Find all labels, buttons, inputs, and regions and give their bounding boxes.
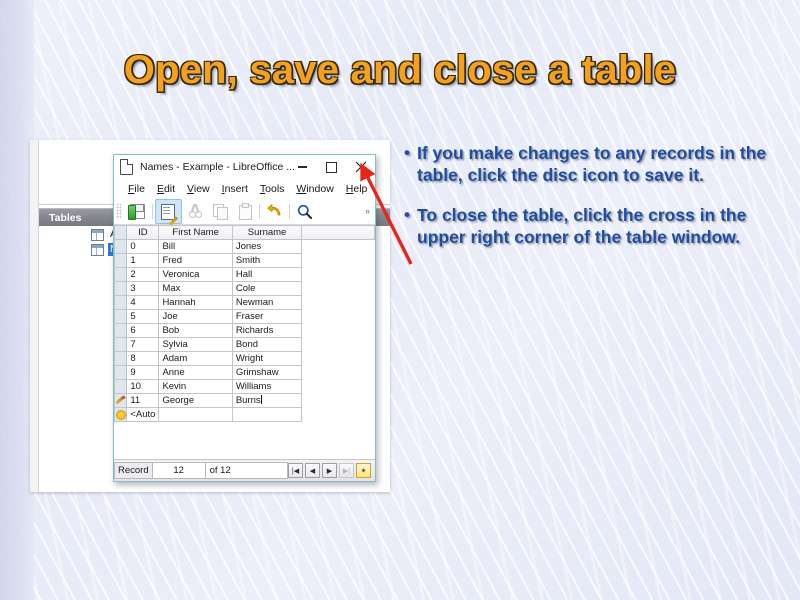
cell-filler	[302, 408, 375, 422]
new-record-button[interactable]: ✶	[356, 463, 371, 478]
bullet-marker: •	[404, 142, 410, 164]
new-record-icon	[117, 411, 125, 419]
edit-data-icon	[161, 204, 176, 219]
cell-id[interactable]: 10	[127, 380, 159, 394]
cell-last[interactable]: Fraser	[232, 310, 301, 324]
menu-item-tools[interactable]: Tools	[254, 183, 291, 195]
cell-last[interactable]: Jones	[232, 240, 301, 254]
toolbar: »	[114, 198, 375, 225]
cell-id[interactable]: 9	[127, 366, 159, 380]
row-marker[interactable]	[115, 296, 127, 310]
cell-first[interactable]: Veronica	[159, 268, 232, 282]
base-left-margin	[30, 140, 39, 492]
status-bar: Record 12 of 12 |◀ ◀ ▶ ▶| ✶	[114, 459, 375, 481]
close-icon	[355, 161, 367, 173]
cell-last[interactable]: Bond	[232, 338, 301, 352]
menu-label-rest: ile	[134, 183, 145, 195]
undo-icon	[267, 204, 283, 218]
table-row[interactable]: 4 Hannah Newman	[115, 296, 375, 310]
menu-label-rest: ools	[265, 183, 284, 195]
document-icon	[120, 159, 133, 175]
cell-first[interactable]: Sylvia	[159, 338, 232, 352]
cell-last[interactable]: Williams	[232, 380, 301, 394]
row-marker[interactable]	[115, 324, 127, 338]
cell-filler	[302, 352, 375, 366]
cell-last[interactable]: Richards	[232, 324, 301, 338]
table-row-editing[interactable]: 11 George Burns	[115, 394, 375, 408]
cell-filler	[302, 268, 375, 282]
toolbar-overflow-button[interactable]: »	[365, 206, 370, 216]
cell-filler	[302, 338, 375, 352]
cell-id[interactable]: 0	[127, 240, 159, 254]
cell-id[interactable]: 4	[127, 296, 159, 310]
column-header-surname[interactable]: Surname	[232, 226, 301, 240]
table-row[interactable]: 6 Bob Richards	[115, 324, 375, 338]
menu-label-rest: indow	[306, 183, 333, 195]
menu-item-view[interactable]: View	[181, 183, 216, 195]
cut-button[interactable]	[182, 200, 207, 223]
minimize-icon	[298, 166, 307, 167]
pencil-icon	[116, 396, 125, 405]
find-record-button[interactable]	[292, 200, 317, 223]
cell-first[interactable]: Joe	[159, 310, 232, 324]
record-navigation: |◀ ◀ ▶ ▶| ✶	[288, 463, 375, 478]
cell-filler	[302, 240, 375, 254]
toolbar-separator	[259, 204, 260, 219]
menu-item-file[interactable]: File	[122, 183, 151, 195]
undo-button[interactable]	[262, 200, 287, 223]
cell-first[interactable]: Bob	[159, 324, 232, 338]
cell-first[interactable]: Max	[159, 282, 232, 296]
cell-id[interactable]: 7	[127, 338, 159, 352]
row-marker[interactable]	[115, 254, 127, 268]
text-cursor	[261, 395, 262, 404]
cell-filler	[302, 282, 375, 296]
table-row[interactable]: 0 Bill Jones	[115, 240, 375, 254]
toolbar-separator	[289, 204, 290, 219]
bullet-text: If you make changes to any records in th…	[417, 143, 766, 185]
cell-id[interactable]: 6	[127, 324, 159, 338]
tables-section-label: Tables	[49, 212, 81, 224]
records-table: ID First Name Surname 0 Bill Jones 1	[114, 225, 375, 422]
records-body: 0 Bill Jones 1 Fred Smith 2 Veronica Hal	[115, 240, 375, 422]
row-marker[interactable]	[115, 268, 127, 282]
cell-filler	[302, 324, 375, 338]
table-row[interactable]: 3 Max Cole	[115, 282, 375, 296]
table-icon	[91, 229, 104, 241]
cell-last[interactable]: Grimshaw	[232, 366, 301, 380]
minimize-button[interactable]	[288, 155, 317, 179]
row-marker[interactable]	[115, 338, 127, 352]
last-record-button[interactable]: ▶|	[339, 463, 354, 478]
record-label: Record	[114, 462, 153, 479]
table-row-new[interactable]: <Auto	[115, 408, 375, 422]
table-row[interactable]: 8 Adam Wright	[115, 352, 375, 366]
next-record-button[interactable]: ▶	[322, 463, 337, 478]
paste-button[interactable]	[232, 200, 257, 223]
menu-label-rest: dit	[164, 183, 175, 195]
row-marker-new[interactable]	[115, 408, 127, 422]
data-grid[interactable]: ID First Name Surname 0 Bill Jones 1	[114, 225, 375, 459]
window-title: Names - Example - LibreOffice ...	[140, 161, 295, 173]
table-row[interactable]: 9 Anne Grimshaw	[115, 366, 375, 380]
row-marker[interactable]	[115, 240, 127, 254]
cell-filler	[302, 366, 375, 380]
table-icon	[91, 244, 104, 256]
menu-label-rest: elp	[353, 183, 367, 195]
close-button[interactable]	[346, 155, 375, 179]
cell-filler	[302, 394, 375, 408]
cell-last-editing[interactable]: Burns	[232, 394, 301, 408]
column-header-id[interactable]: ID	[127, 226, 159, 240]
cell-last[interactable]	[232, 408, 301, 422]
table-data-window: Names - Example - LibreOffice ... File E…	[113, 154, 376, 482]
row-marker[interactable]	[115, 366, 127, 380]
row-marker[interactable]	[115, 352, 127, 366]
previous-record-button[interactable]: ◀	[305, 463, 320, 478]
bullet-marker: •	[404, 204, 410, 226]
save-button[interactable]	[125, 200, 150, 223]
column-header-first-name[interactable]: First Name	[159, 226, 232, 240]
paste-icon	[238, 204, 252, 218]
row-marker[interactable]	[115, 310, 127, 324]
menu-item-insert[interactable]: Insert	[216, 183, 254, 195]
copy-button[interactable]	[207, 200, 232, 223]
edit-data-button[interactable]	[155, 199, 182, 224]
find-icon	[297, 204, 312, 219]
record-number-field[interactable]: 12	[153, 462, 206, 479]
menu-item-window[interactable]: Window	[290, 183, 339, 195]
row-marker[interactable]	[115, 380, 127, 394]
table-row[interactable]: 5 Joe Fraser	[115, 310, 375, 324]
row-selector-header	[115, 226, 127, 240]
maximize-button[interactable]	[317, 155, 346, 179]
cell-filler	[302, 296, 375, 310]
table-row[interactable]: 2 Veronica Hall	[115, 268, 375, 282]
table-header-row: ID First Name Surname	[115, 226, 375, 240]
cell-first[interactable]: Anne	[159, 366, 232, 380]
copy-icon	[213, 204, 227, 218]
cell-id[interactable]: 2	[127, 268, 159, 282]
cell-filler	[302, 380, 375, 394]
menu-item-help[interactable]: Help	[340, 183, 374, 195]
cell-first[interactable]: Fred	[159, 254, 232, 268]
column-header-filler	[302, 226, 375, 240]
cell-first[interactable]: Adam	[159, 352, 232, 366]
menu-label-rest: iew	[194, 183, 210, 195]
cell-filler	[302, 254, 375, 268]
cell-last[interactable]: Wright	[232, 352, 301, 366]
bullet-list: • If you make changes to any records in …	[404, 142, 776, 266]
menu-item-edit[interactable]: Edit	[151, 183, 181, 195]
cell-id[interactable]: 11	[127, 394, 159, 408]
toolbar-separator	[152, 204, 153, 219]
window-controls	[288, 155, 375, 179]
window-title-bar: Names - Example - LibreOffice ...	[114, 155, 375, 179]
cell-first[interactable]: Bill	[159, 240, 232, 254]
table-row[interactable]: 7 Sylvia Bond	[115, 338, 375, 352]
page-title: Open, save and close a table	[0, 48, 800, 93]
table-row[interactable]: 10 Kevin Williams	[115, 380, 375, 394]
menu-label-rest: nsert	[225, 183, 248, 195]
save-icon	[130, 204, 145, 219]
row-marker-editing[interactable]	[115, 394, 127, 408]
toolbar-grip[interactable]	[116, 203, 122, 219]
cell-filler	[302, 310, 375, 324]
maximize-icon	[326, 162, 337, 173]
cell-id[interactable]: 3	[127, 282, 159, 296]
cell-last-text: Burns	[236, 395, 261, 406]
record-total: of 12	[206, 462, 288, 479]
cell-first[interactable]: George	[159, 394, 232, 408]
cell-last[interactable]: Hall	[232, 268, 301, 282]
cell-last[interactable]: Cole	[232, 282, 301, 296]
cell-first[interactable]	[159, 408, 232, 422]
cell-id[interactable]: 8	[127, 352, 159, 366]
bullet-item-save: • If you make changes to any records in …	[404, 142, 776, 187]
cell-first[interactable]: Hannah	[159, 296, 232, 310]
bullet-item-close: • To close the table, click the cross in…	[404, 204, 776, 249]
cell-id[interactable]: 1	[127, 254, 159, 268]
cell-last[interactable]: Smith	[232, 254, 301, 268]
table-row[interactable]: 1 Fred Smith	[115, 254, 375, 268]
cell-first[interactable]: Kevin	[159, 380, 232, 394]
bullet-text: To close the table, click the cross in t…	[417, 205, 746, 247]
cut-icon	[188, 204, 202, 218]
first-record-button[interactable]: |◀	[288, 463, 303, 478]
row-marker[interactable]	[115, 282, 127, 296]
menu-bar: File Edit View Insert Tools Window Help	[114, 179, 375, 198]
cell-id-autofield[interactable]: <Auto	[127, 408, 159, 422]
cell-id[interactable]: 5	[127, 310, 159, 324]
cell-last[interactable]: Newman	[232, 296, 301, 310]
